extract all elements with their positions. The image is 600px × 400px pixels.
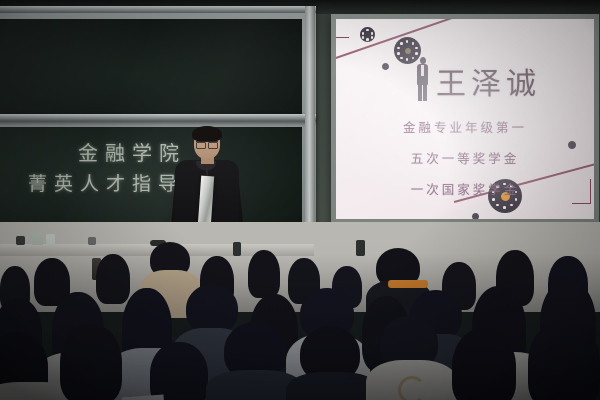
- student-head: [528, 320, 600, 400]
- student-head: [186, 284, 238, 334]
- slide-bullet-3: 一次国家奖学金: [336, 179, 594, 198]
- student-head: [248, 250, 280, 298]
- slide-title: 王泽诚: [436, 59, 541, 103]
- slide-bullet-1: 金融专业年级第一: [336, 117, 594, 136]
- blackboard-rail-top: [0, 6, 316, 13]
- blackboard-rail-middle: [0, 114, 316, 121]
- presentation-slide: 王泽诚 金融专业年级第一 五次一等奖学金 一次国家奖学金: [336, 19, 594, 219]
- screenshot-root: 金融学院 菁英人才指导会: [0, 0, 600, 400]
- blackboard: 金融学院 菁英人才指导会: [0, 6, 316, 238]
- projection-screen: 王泽诚 金融专业年级第一 五次一等奖学金 一次国家奖学金: [336, 19, 594, 219]
- slide-dot-ornament-c: [472, 213, 479, 219]
- blackboard-right-edge: [305, 6, 315, 238]
- gear-ornament-small-icon: [360, 27, 375, 42]
- student-head: [96, 254, 130, 304]
- hoodie-logo: [398, 376, 426, 400]
- slide-dot-ornament-a: [382, 63, 389, 70]
- blackboard-upper-panel: [0, 19, 302, 120]
- slide-corner-notch-top-left: [336, 37, 349, 60]
- slide-body: 金融专业年级第一 五次一等奖学金 一次国家奖学金: [336, 117, 594, 210]
- seated-students: [0, 236, 600, 400]
- slide-bullet-2: 五次一等奖学金: [336, 148, 594, 167]
- jacket-orange-stripe: [388, 280, 428, 288]
- standing-person-icon: [416, 57, 429, 101]
- presenter-hair: [192, 126, 222, 142]
- student-head: [60, 324, 122, 400]
- student-head: [452, 328, 516, 400]
- glasses-icon: [196, 141, 218, 147]
- student-head: [150, 342, 208, 400]
